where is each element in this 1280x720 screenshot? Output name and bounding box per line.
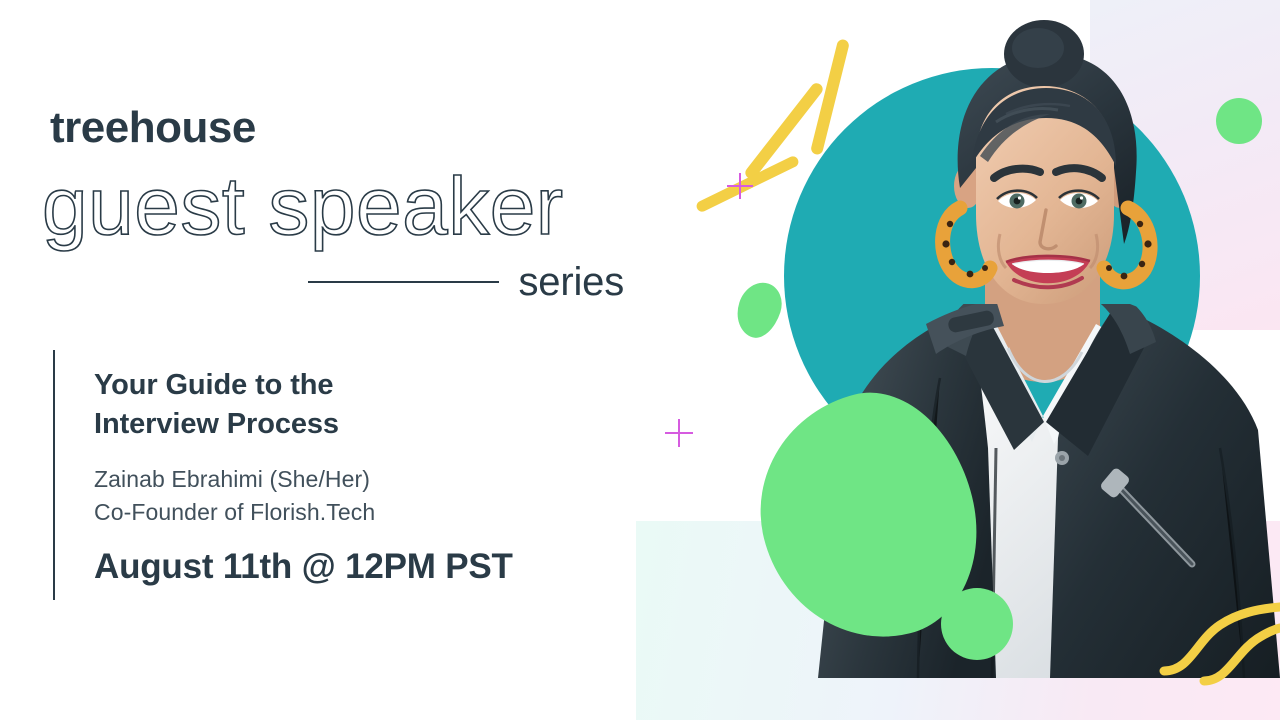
yellow-wave-lines-icon: [1150, 585, 1280, 695]
series-label: series: [519, 262, 625, 302]
guest-speaker-poster: treehouse guest speaker series Your Guid…: [0, 0, 1280, 720]
page-title: guest speaker: [42, 166, 564, 248]
speaker-role: Co-Founder of Florish.Tech: [94, 496, 613, 529]
event-datetime: August 11th @ 12PM PST: [94, 528, 613, 587]
talk-details-block: Your Guide to the Interview Process Zain…: [53, 350, 613, 600]
green-blob-shape: [730, 277, 787, 343]
series-divider-rule: [308, 281, 499, 283]
poster-text-content: treehouse guest speaker series Your Guid…: [0, 0, 680, 720]
plus-sign-icon: [727, 173, 753, 199]
talk-title: Your Guide to the Interview Process: [94, 350, 613, 443]
talk-title-line-2: Interview Process: [94, 405, 613, 444]
treehouse-wordmark: treehouse: [50, 106, 256, 150]
series-row: series: [308, 258, 624, 306]
green-circle-shape: [941, 588, 1013, 660]
speaker-name: Zainab Ebrahimi (She/Her): [94, 443, 613, 496]
talk-title-line-1: Your Guide to the: [94, 366, 613, 405]
